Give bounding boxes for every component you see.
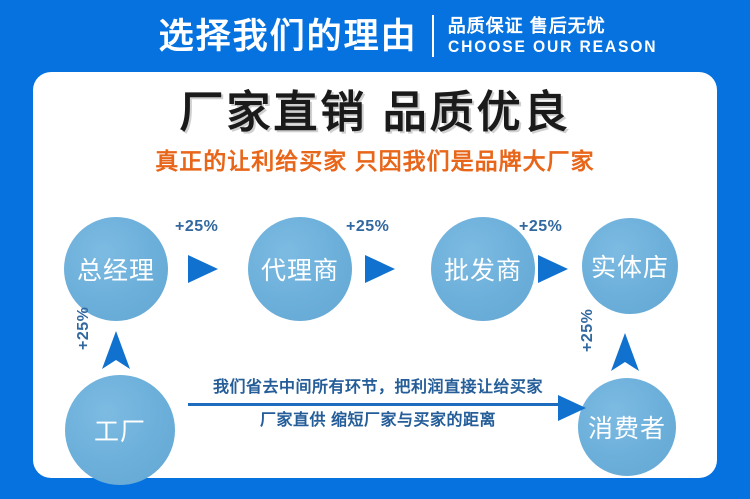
arrow-up-icon <box>101 331 131 371</box>
header-chinese-tagline: 品质保证 售后无忧 <box>448 17 676 36</box>
markup-label-4: +25% <box>75 307 93 350</box>
arrow-up-icon <box>610 333 640 373</box>
flow-node-factory: 工厂 <box>65 375 175 485</box>
message-arrow-icon <box>558 395 586 421</box>
direct-supply-message: 我们省去中间所有环节，把利润直接让给买家 厂家直供 缩短厂家与买家的距离 <box>188 377 568 433</box>
flow-node-label: 消费者 <box>588 409 666 445</box>
flow-node-label: 总经理 <box>77 251 155 287</box>
flow-node-retail-store: 实体店 <box>582 218 678 314</box>
flow-node-label: 代理商 <box>261 251 339 287</box>
flow-node-consumer: 消费者 <box>578 378 676 476</box>
markup-label-5: +25% <box>579 309 597 352</box>
content-panel: 厂家直销 品质优良 真正的让利给买家 只因我们是品牌大厂家 总经理 代理商 批发… <box>33 72 717 478</box>
header-main-title: 选择我们的理由 <box>159 19 432 54</box>
markup-label-1: +25% <box>175 218 218 236</box>
markup-label-2: +25% <box>346 218 389 236</box>
header-tagline-group: 品质保证 售后无忧 CHOOSE OUR REASON <box>434 17 676 56</box>
promotional-poster: 选择我们的理由 品质保证 售后无忧 CHOOSE OUR REASON 厂家直销… <box>0 0 750 499</box>
flow-node-manager: 总经理 <box>64 217 168 321</box>
flow-node-label: 批发商 <box>444 251 522 287</box>
flow-node-label: 工厂 <box>94 412 146 448</box>
arrow-right-icon <box>188 255 218 283</box>
message-line-bottom: 厂家直供 缩短厂家与买家的距离 <box>188 410 568 432</box>
message-underline <box>188 403 568 406</box>
flow-node-agent: 代理商 <box>248 217 352 321</box>
flow-node-label: 实体店 <box>591 248 669 284</box>
header-english-tagline: CHOOSE OUR REASON <box>448 38 657 56</box>
panel-main-title: 厂家直销 品质优良 <box>33 88 717 139</box>
header-banner: 选择我们的理由 品质保证 售后无忧 CHOOSE OUR REASON <box>0 0 750 72</box>
message-line-top: 我们省去中间所有环节，把利润直接让给买家 <box>188 377 568 399</box>
arrow-right-icon <box>365 255 395 283</box>
arrow-right-icon <box>538 255 568 283</box>
panel-sub-title: 真正的让利给买家 只因我们是品牌大厂家 <box>33 148 717 176</box>
header-content: 选择我们的理由 品质保证 售后无忧 CHOOSE OUR REASON <box>159 15 676 57</box>
markup-label-3: +25% <box>519 218 562 236</box>
